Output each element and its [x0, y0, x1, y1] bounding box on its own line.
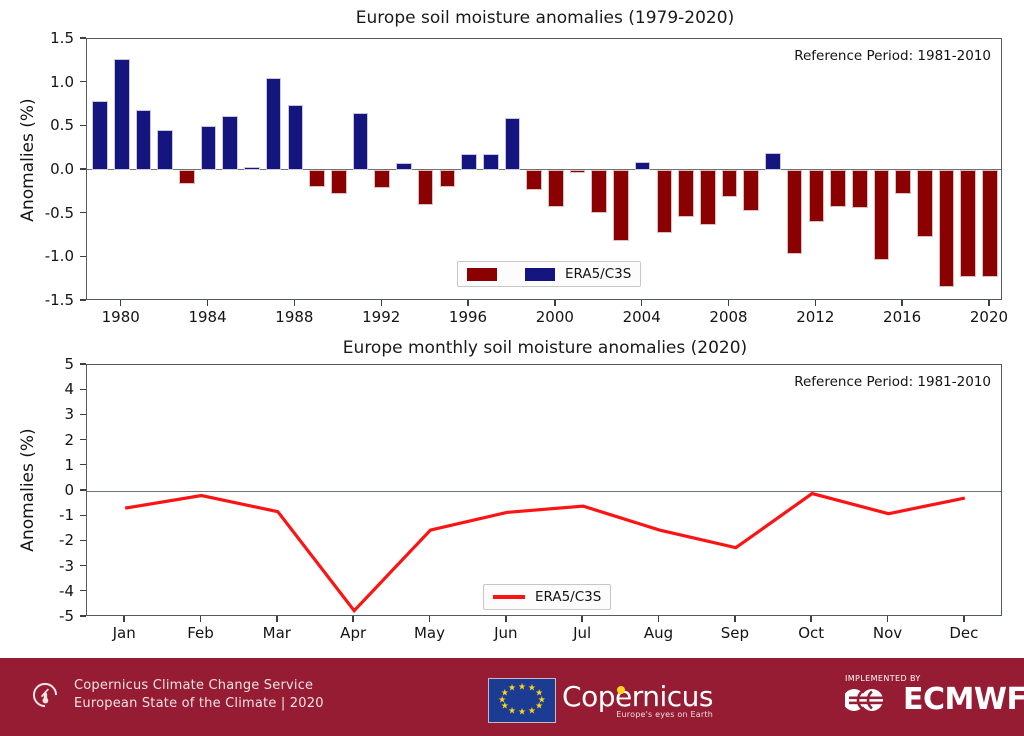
y-tick-mark-annual-5 [80, 256, 86, 257]
x-tick-label-annual-8: 2012 [796, 308, 834, 326]
x-tick-label-annual-10: 2020 [970, 308, 1008, 326]
y-tick-label-monthly-10: -5 [0, 607, 74, 625]
x-tick-mark-annual-3 [381, 300, 382, 306]
x-tick-mark-monthly-6 [581, 616, 582, 622]
y-tick-label-annual-6: -1.5 [0, 291, 74, 309]
bar-1985 [222, 116, 238, 170]
legend-swatch-negative [467, 268, 497, 281]
bar-2009 [743, 170, 759, 211]
y-tick-label-monthly-9: -4 [0, 582, 74, 600]
eu-star-icon: ★ [518, 709, 526, 718]
bar-1986 [244, 167, 260, 170]
y-tick-mark-monthly-6 [80, 515, 86, 516]
y-tick-label-annual-2: 0.5 [0, 116, 74, 134]
bar-series-annual [87, 39, 1001, 299]
eu-star-icon: ★ [518, 683, 526, 692]
x-tick-mark-annual-4 [467, 300, 468, 306]
footer-text: Copernicus Climate Change Service Europe… [74, 677, 324, 713]
bar-2017 [917, 170, 933, 237]
x-tick-mark-monthly-8 [734, 616, 735, 622]
monthly-anomalies-panel: Europe monthly soil moisture anomalies (… [0, 330, 1024, 650]
x-tick-mark-annual-10 [988, 300, 989, 306]
bar-2010 [765, 153, 781, 170]
x-tick-label-monthly-jun: Jun [494, 624, 517, 642]
y-tick-label-monthly-1: 4 [0, 380, 74, 398]
y-tick-mark-monthly-10 [80, 615, 86, 616]
x-tick-mark-monthly-11 [963, 616, 964, 622]
x-tick-mark-annual-7 [728, 300, 729, 306]
climate-figure: Europe soil moisture anomalies (1979-202… [0, 0, 1024, 736]
legend-label-annual: ERA5/C3S [565, 266, 631, 282]
eu-star-icon: ★ [528, 707, 536, 716]
x-tick-label-monthly-oct: Oct [798, 624, 824, 642]
bar-1997 [483, 154, 499, 170]
y-tick-label-monthly-5: 0 [0, 481, 74, 499]
bar-1994 [418, 170, 434, 205]
bar-1998 [505, 118, 521, 170]
y-tick-label-monthly-7: -2 [0, 531, 74, 549]
x-tick-mark-monthly-5 [505, 616, 506, 622]
eu-star-icon: ★ [508, 707, 516, 716]
x-tick-label-annual-3: 1992 [362, 308, 400, 326]
bar-1993 [396, 163, 412, 170]
legend-swatch-positive [525, 268, 555, 281]
eu-star-icon: ★ [508, 685, 516, 694]
annual-anomalies-panel: Europe soil moisture anomalies (1979-202… [0, 0, 1024, 330]
y-tick-mark-monthly-9 [80, 590, 86, 591]
x-tick-label-monthly-jul: Jul [573, 624, 591, 642]
y-tick-mark-monthly-1 [80, 389, 86, 390]
bar-2004 [635, 162, 651, 170]
c3s-branding: Copernicus Climate Change Service Europe… [28, 677, 324, 713]
chart-title-annual: Europe soil moisture anomalies (1979-202… [80, 8, 1010, 28]
y-tick-label-annual-3: 0.0 [0, 160, 74, 178]
x-tick-mark-annual-5 [554, 300, 555, 306]
y-tick-mark-annual-6 [80, 299, 86, 300]
bar-2016 [895, 170, 911, 194]
bar-1983 [179, 170, 195, 184]
x-tick-label-monthly-apr: Apr [340, 624, 366, 642]
bar-1988 [288, 105, 304, 171]
bar-2000 [548, 170, 564, 207]
bar-2007 [700, 170, 716, 225]
y-tick-mark-monthly-8 [80, 565, 86, 566]
x-tick-mark-monthly-0 [123, 616, 124, 622]
x-tick-mark-monthly-4 [429, 616, 430, 622]
x-tick-mark-monthly-9 [810, 616, 811, 622]
footer-report-line: European State of the Climate | 2020 [74, 695, 324, 713]
bar-2006 [678, 170, 694, 217]
x-tick-mark-annual-1 [207, 300, 208, 306]
x-tick-mark-annual-8 [815, 300, 816, 306]
legend-label-monthly: ERA5/C3S [535, 589, 601, 605]
bar-1990 [331, 170, 347, 194]
x-tick-mark-monthly-7 [658, 616, 659, 622]
plot-area-monthly: Reference Period: 1981-2010 ERA5/C3S [86, 364, 1002, 616]
x-tick-label-annual-4: 1996 [449, 308, 487, 326]
legend-annual[interactable]: ERA5/C3S [457, 261, 641, 287]
copernicus-dot-icon [617, 686, 625, 694]
line-series-monthly [87, 365, 1003, 617]
bar-2015 [874, 170, 890, 260]
footer-banner: Copernicus Climate Change Service Europe… [0, 658, 1024, 736]
y-tick-label-annual-1: 1.0 [0, 73, 74, 91]
x-tick-label-monthly-mar: Mar [263, 624, 291, 642]
y-tick-label-monthly-2: 3 [0, 405, 74, 423]
x-tick-label-annual-2: 1988 [275, 308, 313, 326]
y-tick-label-annual-0: 1.5 [0, 29, 74, 47]
copernicus-word-rest: opernicus [581, 680, 713, 713]
x-tick-label-monthly-aug: Aug [644, 624, 673, 642]
legend-line-monthly [493, 595, 525, 598]
bar-1987 [266, 78, 282, 170]
x-tick-label-monthly-feb: Feb [187, 624, 214, 642]
x-tick-label-annual-6: 2004 [623, 308, 661, 326]
ecmwf-mark-icon [845, 685, 903, 715]
bar-1999 [526, 170, 542, 190]
ecmwf-logo: IMPLEMENTED BY ECMWF [845, 674, 1024, 715]
plot-area-annual: Reference Period: 1981-2010 ERA5/C3S [86, 38, 1002, 300]
bar-2013 [830, 170, 846, 207]
x-tick-label-annual-7: 2008 [709, 308, 747, 326]
y-tick-label-monthly-0: 5 [0, 355, 74, 373]
eu-star-icon: ★ [535, 702, 543, 711]
y-tick-mark-monthly-3 [80, 439, 86, 440]
y-tick-label-annual-4: -0.5 [0, 204, 74, 222]
bar-2002 [591, 170, 607, 213]
x-tick-label-annual-1: 1984 [188, 308, 226, 326]
y-tick-mark-annual-0 [80, 37, 86, 38]
x-tick-label-monthly-may: May [414, 624, 445, 642]
bar-1991 [353, 113, 369, 170]
y-tick-mark-annual-3 [80, 168, 86, 169]
bar-2020 [982, 170, 998, 277]
y-tick-mark-monthly-0 [80, 363, 86, 364]
x-tick-label-annual-5: 2000 [536, 308, 574, 326]
c3s-logo-icon [28, 678, 62, 712]
y-tick-label-monthly-6: -1 [0, 506, 74, 524]
legend-monthly[interactable]: ERA5/C3S [483, 584, 611, 610]
footer-service-name: Copernicus Climate Change Service [74, 677, 324, 695]
bar-2008 [722, 170, 738, 197]
x-tick-label-monthly-dec: Dec [949, 624, 978, 642]
bar-2012 [809, 170, 825, 222]
copernicus-logo: ★★★★★★★★★★★★ Copernicus Europe's eyes on… [488, 678, 713, 723]
bar-2001 [570, 170, 586, 173]
y-tick-label-monthly-3: 2 [0, 431, 74, 449]
y-tick-mark-monthly-7 [80, 540, 86, 541]
bar-2003 [613, 170, 629, 241]
y-tick-mark-annual-1 [80, 81, 86, 82]
x-tick-label-monthly-sep: Sep [721, 624, 749, 642]
y-tick-label-monthly-8: -3 [0, 557, 74, 575]
x-tick-label-annual-9: 2016 [883, 308, 921, 326]
bar-1982 [157, 130, 173, 170]
x-tick-mark-monthly-10 [887, 616, 888, 622]
bar-2019 [960, 170, 976, 277]
x-tick-mark-annual-9 [901, 300, 902, 306]
y-tick-mark-annual-4 [80, 212, 86, 213]
bar-1995 [440, 170, 456, 187]
bar-2014 [852, 170, 868, 208]
bar-1984 [201, 126, 217, 170]
y-tick-mark-monthly-2 [80, 414, 86, 415]
y-tick-label-monthly-4: 1 [0, 456, 74, 474]
copernicus-c-letter: C [562, 680, 581, 713]
x-tick-mark-monthly-2 [276, 616, 277, 622]
x-tick-mark-annual-2 [294, 300, 295, 306]
x-tick-mark-monthly-1 [200, 616, 201, 622]
copernicus-wordmark: Copernicus Europe's eyes on Earth [562, 682, 713, 719]
y-tick-mark-monthly-5 [80, 489, 86, 490]
x-tick-label-monthly-nov: Nov [873, 624, 902, 642]
bar-1992 [374, 170, 390, 188]
bar-1979 [92, 101, 108, 170]
x-tick-label-monthly-jan: Jan [113, 624, 136, 642]
y-tick-mark-monthly-4 [80, 464, 86, 465]
bar-1981 [136, 110, 152, 170]
bar-2018 [939, 170, 955, 287]
bar-1996 [461, 154, 477, 170]
ecmwf-wordmark: ECMWF [903, 685, 1024, 715]
x-tick-mark-monthly-3 [352, 616, 353, 622]
x-tick-mark-annual-0 [120, 300, 121, 306]
bar-1980 [114, 59, 130, 170]
bar-1989 [309, 170, 325, 187]
bar-2011 [787, 170, 803, 254]
y-tick-mark-annual-2 [80, 125, 86, 126]
x-tick-label-annual-0: 1980 [102, 308, 140, 326]
x-tick-mark-annual-6 [641, 300, 642, 306]
y-tick-label-annual-5: -1.0 [0, 247, 74, 265]
bar-2005 [657, 170, 673, 233]
chart-title-monthly: Europe monthly soil moisture anomalies (… [80, 338, 1010, 358]
eu-flag-icon: ★★★★★★★★★★★★ [488, 678, 556, 723]
